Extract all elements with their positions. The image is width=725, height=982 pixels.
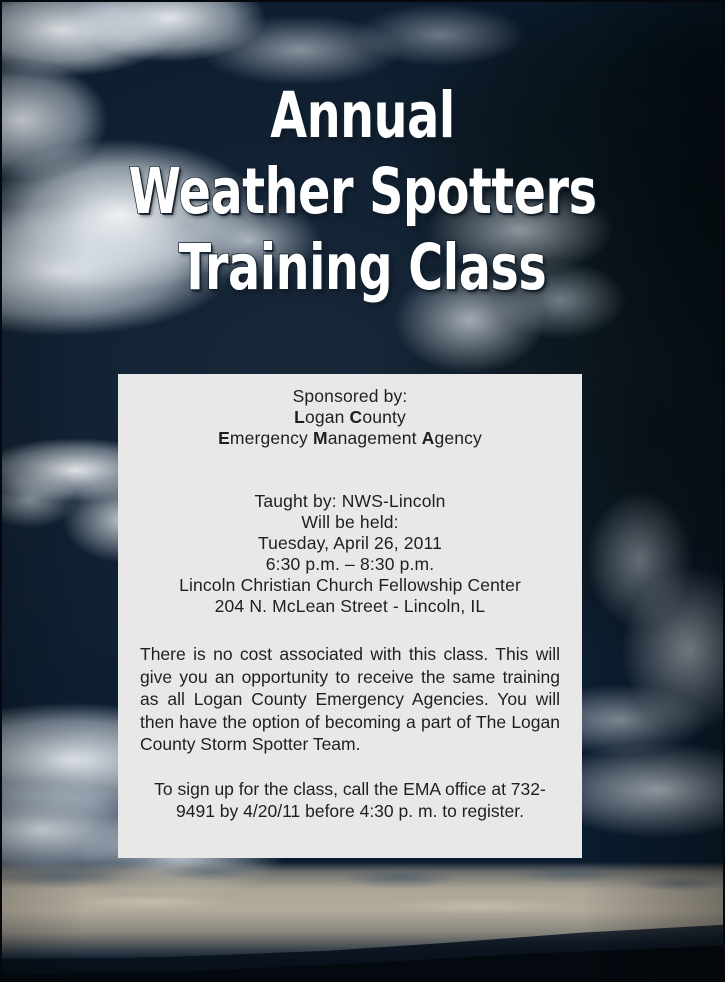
information-panel: Sponsored by: Logan County Emergency Man… xyxy=(118,374,582,858)
spacer-after-sponsor-2 xyxy=(136,470,564,491)
event-time: 6:30 p.m. – 8:30 p.m. xyxy=(136,554,564,575)
sponsor-text-gency: gency xyxy=(434,428,481,448)
sponsor-cap-c: C xyxy=(350,407,363,427)
will-be-held-line: Will be held: xyxy=(136,512,564,533)
horizon-shadow xyxy=(0,900,725,982)
sponsor-cap-m: M xyxy=(313,428,328,448)
sponsor-org-line-1: Logan County xyxy=(136,407,564,428)
sponsored-by-label: Sponsored by: xyxy=(136,386,564,407)
sponsor-cap-e: E xyxy=(218,428,230,448)
title-line-1: Annual xyxy=(58,78,667,154)
flyer-title: Annual Weather Spotters Training Class xyxy=(0,78,725,306)
spacer-before-signup xyxy=(136,756,564,778)
spacer-before-body xyxy=(136,617,564,643)
sponsor-cap-a: A xyxy=(422,428,435,448)
sponsor-cap-l: L xyxy=(294,407,305,427)
sunlit-cloud-texture xyxy=(0,862,725,962)
flyer-page: Annual Weather Spotters Training Class S… xyxy=(0,0,725,982)
event-date: Tuesday, April 26, 2011 xyxy=(136,533,564,554)
spacer-after-sponsor xyxy=(136,449,564,470)
title-line-2: Weather Spotters xyxy=(58,154,667,230)
signup-paragraph: To sign up for the class, call the EMA o… xyxy=(136,778,564,823)
event-venue: Lincoln Christian Church Fellowship Cent… xyxy=(136,575,564,596)
horizon-dark-wedge xyxy=(0,930,725,982)
title-line-3: Training Class xyxy=(58,230,667,306)
sponsor-org-line-2: Emergency Management Agency xyxy=(136,428,564,449)
sponsor-text-anagement: anagement xyxy=(328,428,422,448)
event-address: 204 N. McLean Street - Lincoln, IL xyxy=(136,596,564,617)
sunlit-cloud-band xyxy=(0,862,725,960)
sponsor-text-ogan: ogan xyxy=(305,407,350,427)
sponsor-text-mergency: mergency xyxy=(230,428,313,448)
body-paragraph: There is no cost associated with this cl… xyxy=(136,643,564,756)
sponsor-text-ounty: ounty xyxy=(362,407,406,427)
taught-by-line: Taught by: NWS-Lincoln xyxy=(136,491,564,512)
